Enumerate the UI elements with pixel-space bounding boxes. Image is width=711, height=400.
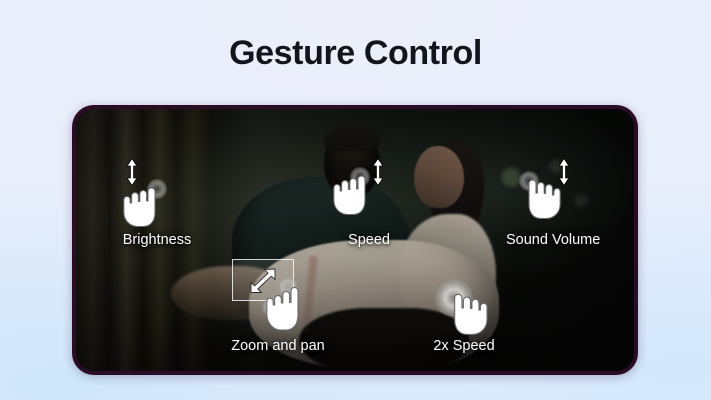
video-player-frame[interactable]: Brightness Speed	[72, 105, 638, 375]
gesture-sound-volume-art	[510, 157, 596, 229]
gesture-2x-speed-label: 2x Speed	[433, 337, 494, 355]
gesture-speed[interactable]: Speed	[326, 157, 412, 249]
gesture-zoom-and-pan[interactable]: Zoom and pan	[226, 257, 330, 355]
gesture-brightness[interactable]: Brightness	[114, 157, 200, 249]
gesture-speed-label: Speed	[348, 231, 390, 249]
page-title: Gesture Control	[0, 33, 711, 73]
hand-swipe-vertical-icon	[330, 165, 382, 217]
video-surface[interactable]: Brightness Speed	[76, 109, 634, 371]
hand-swipe-vertical-icon	[512, 169, 564, 221]
gesture-brightness-label: Brightness	[123, 231, 192, 249]
gesture-zoom-and-pan-label: Zoom and pan	[231, 337, 325, 355]
gesture-sound-volume-label: Sound Volume	[506, 231, 600, 249]
hand-press-hold-icon	[437, 283, 491, 337]
gesture-speed-art	[326, 157, 412, 229]
gesture-brightness-art	[114, 157, 200, 229]
gesture-2x-speed[interactable]: 2x Speed	[421, 279, 507, 355]
gesture-zoom-and-pan-art	[226, 257, 330, 335]
hand-swipe-vertical-icon	[120, 177, 172, 229]
gesture-2x-speed-art	[421, 279, 507, 335]
app-root: Gesture Control	[0, 0, 711, 400]
gesture-sound-volume[interactable]: Sound Volume	[506, 157, 600, 249]
two-finger-pinch-icon	[264, 275, 320, 333]
